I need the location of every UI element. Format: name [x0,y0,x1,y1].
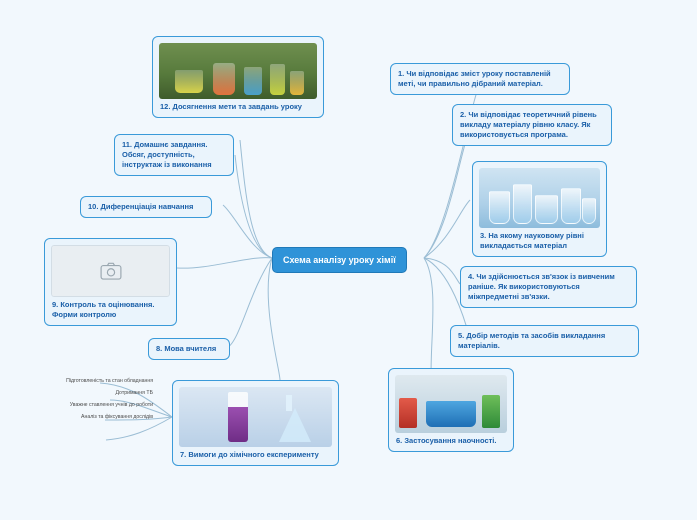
flasks-blue-photo [479,168,600,228]
node-6-label: 6. Застосування наочності. [389,436,513,451]
node-2-label: 2. Чи відповідає теоретичний рівень викл… [460,110,604,140]
node-9[interactable]: 9. Контроль та оцінювання. Форми контрол… [44,238,177,326]
subtree-item-1: Підготовленість та стан обладнання [18,375,153,387]
node-8[interactable]: 8. Мова вчителя [148,338,230,360]
node-7-subtree: Підготовленість та стан обладнання Дотри… [18,375,153,423]
node-1-label: 1. Чи відповідає зміст уроку поставленій… [398,69,562,89]
photo-placeholder-icon [51,245,170,297]
node-5[interactable]: 5. Добір методів та засобів викладання м… [450,325,639,357]
subtree-item-3: Уважне ставлення учнів до роботи [18,399,153,411]
node-10[interactable]: 10. Диференціація навчання [80,196,212,218]
node-11-label: 11. Домашнє завдання. Обсяг, доступність… [122,140,226,170]
node-7-label: 7. Вимоги до хімічного експерименту [173,450,338,465]
node-12-label: 12. Досягнення мети та завдань уроку [153,102,323,117]
node-9-label: 9. Контроль та оцінювання. Форми контрол… [45,300,176,325]
node-7[interactable]: 7. Вимоги до хімічного експерименту [172,380,339,466]
center-topic-label: Схема аналізу уроку хімії [283,255,396,265]
node-10-label: 10. Диференціація навчання [88,202,204,212]
mindmap-canvas: Схема аналізу уроку хімії 12. Досягнення… [0,0,697,520]
node-11[interactable]: 11. Домашнє завдання. Обсяг, доступність… [114,134,234,176]
node-4[interactable]: 4. Чи здійснюється зв'язок із вивченим р… [460,266,637,308]
beaker-blue-photo [395,375,507,433]
chem-board-photo [159,43,317,99]
node-1[interactable]: 1. Чи відповідає зміст уроку поставленій… [390,63,570,95]
node-6[interactable]: 6. Застосування наочності. [388,368,514,452]
node-8-label: 8. Мова вчителя [156,344,222,354]
camera-icon [100,262,122,280]
node-2[interactable]: 2. Чи відповідає теоретичний рівень викл… [452,104,612,146]
subtree-item-4: Аналіз та фіксування дослідів [18,411,153,423]
node-3-label: 3. На якому науковому рівні викладається… [473,231,606,256]
center-topic[interactable]: Схема аналізу уроку хімії [272,247,407,273]
purple-flask-photo [179,387,332,447]
node-5-label: 5. Добір методів та засобів викладання м… [458,331,631,351]
node-3[interactable]: 3. На якому науковому рівні викладається… [472,161,607,257]
subtree-item-2: Дотримання ТБ [18,387,153,399]
node-12[interactable]: 12. Досягнення мети та завдань уроку [152,36,324,118]
node-4-label: 4. Чи здійснюється зв'язок із вивченим р… [468,272,629,302]
